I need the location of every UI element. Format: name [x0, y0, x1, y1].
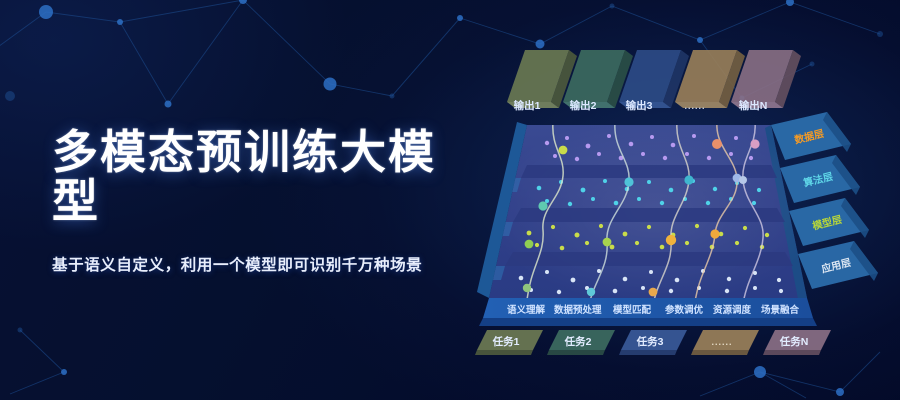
task-slab[interactable]: 任务2: [547, 330, 615, 355]
task-slab[interactable]: 任务N: [763, 330, 831, 355]
banner-root: 多模态预训练大模型 基于语义自定义，利用一个模型即可识别千万种场景: [0, 0, 900, 400]
side-tab-algorithm-layer[interactable]: 算法层: [780, 155, 860, 203]
capability-label[interactable]: 模型匹配: [613, 304, 652, 316]
output-label: 输出1: [514, 99, 541, 112]
task-slab[interactable]: ......: [691, 330, 759, 355]
capability-bar: 语义理解 数据预处理 模型匹配 参数调优 资源调度 场景融合: [479, 298, 817, 326]
output-label: 输出3: [626, 99, 653, 112]
task-slab[interactable]: 任务1: [475, 330, 543, 355]
task-label: 任务1: [492, 335, 520, 348]
task-label: 任务3: [636, 335, 664, 348]
output-label: 输出N: [739, 99, 768, 112]
task-slab[interactable]: 任务3: [619, 330, 687, 355]
capability-label[interactable]: 资源调度: [713, 304, 752, 316]
page-subtitle: 基于语义自定义，利用一个模型即可识别千万种场景: [52, 254, 482, 277]
capability-label[interactable]: 数据预处理: [553, 304, 602, 316]
output-label: ......: [684, 101, 705, 111]
side-tab-application-layer[interactable]: 应用层: [798, 241, 878, 289]
output-label: 输出2: [570, 99, 597, 112]
output-slab-group: 输出1 输出2 输出3 ...... 输出N: [507, 50, 801, 112]
architecture-diagram: 数据层 算法层 模型层 应用层: [455, 30, 885, 380]
capability-label[interactable]: 场景融合: [761, 304, 800, 316]
task-slab-group: 任务1 任务2 任务3 ......: [475, 330, 831, 355]
hero-text-block: 多模态预训练大模型 基于语义自定义，利用一个模型即可识别千万种场景: [52, 128, 482, 277]
task-label: 任务N: [779, 335, 809, 348]
task-label: ......: [711, 337, 732, 347]
task-label: 任务2: [564, 335, 592, 348]
capability-label[interactable]: 参数调优: [664, 304, 704, 316]
side-tab-data-layer[interactable]: 数据层: [771, 112, 851, 160]
capability-label[interactable]: 语义理解: [507, 304, 546, 316]
page-title: 多模态预训练大模型: [52, 128, 482, 226]
side-tab-model-layer[interactable]: 模型层: [789, 198, 869, 246]
network-body: [473, 115, 825, 306]
